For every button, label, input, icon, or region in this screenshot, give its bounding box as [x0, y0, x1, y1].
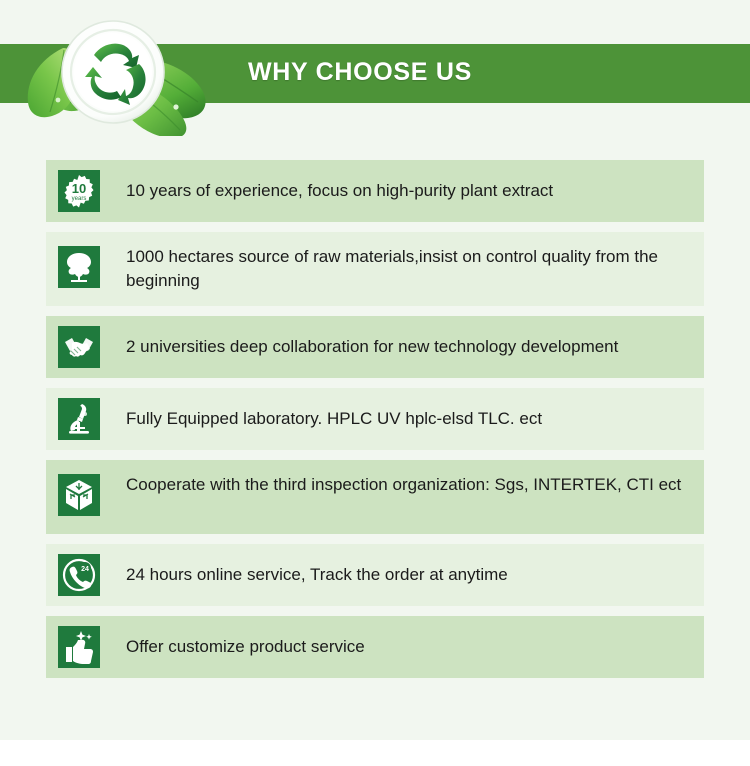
24h-label: 24 [81, 566, 89, 573]
why-choose-us-banner: WHY CHOOSE US [0, 0, 750, 766]
page-title: WHY CHOOSE US [248, 58, 472, 87]
footer-whitespace [0, 740, 750, 766]
thumbs-up-icon [58, 626, 100, 668]
inspection-cube-icon [58, 474, 100, 516]
handshake-icon [58, 326, 100, 368]
list-item-label: 1000 hectares source of raw materials,in… [126, 244, 694, 293]
microscope-icon [58, 398, 100, 440]
feature-list: 10 years 10 years of experience, focus o… [46, 160, 704, 688]
list-item[interactable]: 2 universities deep collaboration for ne… [46, 316, 704, 378]
list-item[interactable]: Cooperate with the third inspection orga… [46, 460, 704, 534]
ten-years-badge-icon: 10 years [58, 170, 100, 212]
list-item[interactable]: 10 years 10 years of experience, focus o… [46, 160, 704, 222]
list-item-label: Offer customize product service [126, 635, 365, 659]
list-item-label: 10 years of experience, focus on high-pu… [126, 179, 553, 203]
list-item-label: 2 universities deep collaboration for ne… [126, 335, 618, 359]
leaf-recycle-logo [8, 8, 223, 136]
list-item[interactable]: 24 24 hours online service, Track the or… [46, 544, 704, 606]
list-item[interactable]: 1000 hectares source of raw materials,in… [46, 232, 704, 306]
tree-icon [58, 246, 100, 288]
24h-phone-support-icon: 24 [58, 554, 100, 596]
ten-years-number: 10 [72, 181, 86, 196]
ten-years-word: years [72, 196, 87, 202]
recycle-badge [62, 21, 164, 123]
list-item-label: 24 hours online service, Track the order… [126, 563, 508, 587]
list-item-label: Cooperate with the third inspection orga… [126, 472, 681, 497]
list-item[interactable]: Fully Equipped laboratory. HPLC UV hplc-… [46, 388, 704, 450]
list-item-label: Fully Equipped laboratory. HPLC UV hplc-… [126, 407, 542, 431]
list-item[interactable]: Offer customize product service [46, 616, 704, 678]
